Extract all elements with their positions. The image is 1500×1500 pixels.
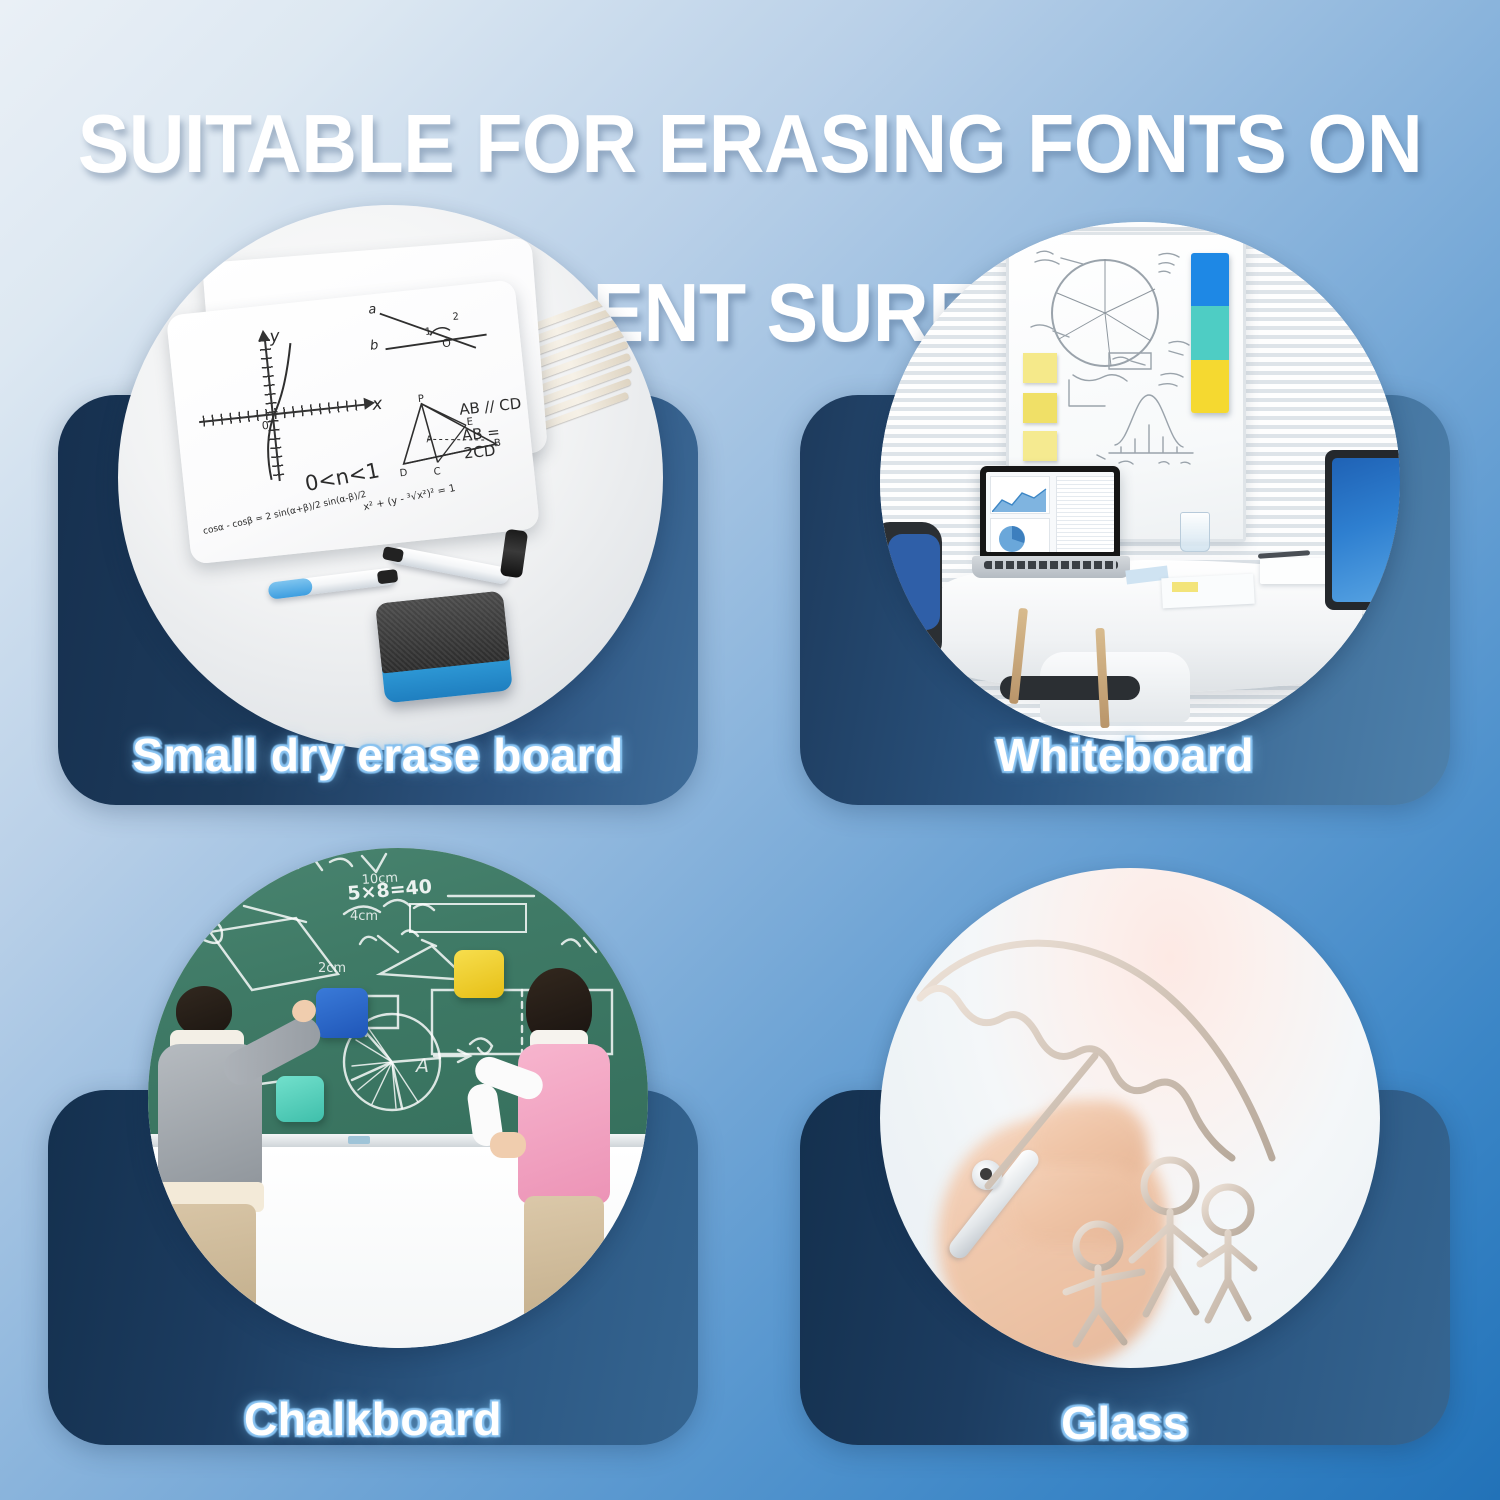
- panel-photo-glass: [880, 868, 1380, 1368]
- dry-erase-marker: [267, 567, 396, 599]
- angle-label-1: 1: [424, 326, 431, 338]
- magnetic-eraser-strip: [1191, 253, 1229, 413]
- water-glass: [1180, 512, 1210, 552]
- child-left-hair: [176, 986, 232, 1036]
- child-left-pants: [164, 1204, 256, 1348]
- sticky-note: [1023, 353, 1057, 383]
- office-chair-left-seat: [888, 534, 940, 630]
- pyramid-label-D: D: [399, 468, 408, 480]
- panel-caption-glass: Glass: [800, 1396, 1450, 1450]
- magnetic-eraser-yellow: [454, 950, 504, 998]
- panel-photo-whiteboard: [880, 222, 1400, 742]
- angle-label-O: O: [442, 336, 452, 350]
- sticky-note: [1023, 393, 1057, 423]
- sticky-note: [1023, 431, 1057, 461]
- magnetic-eraser-blue: [316, 988, 368, 1038]
- magnetic-eraser-teal: [276, 1076, 324, 1122]
- laptop-base: [972, 556, 1130, 578]
- magnetic-eraser: [375, 591, 513, 704]
- marker-cap: [500, 529, 528, 579]
- child-right-vest: [518, 1044, 610, 1204]
- pyramid-label-C: C: [433, 466, 441, 478]
- sticky-note: [1172, 582, 1198, 592]
- page-title-line-1: SUITABLE FOR ERASING FONTS ON: [53, 103, 1448, 184]
- child-right-hand: [490, 1132, 526, 1158]
- dry-erase-marker-second: [389, 546, 510, 586]
- svg-text:2cm: 2cm: [318, 961, 346, 976]
- angle-label-b: b: [369, 338, 379, 354]
- panel-caption-small-dry-erase-board: Small dry erase board: [58, 728, 698, 782]
- child-right-pants: [524, 1196, 604, 1342]
- panel-caption-chalkboard: Chalkboard: [48, 1392, 698, 1446]
- plotted-curve: [244, 339, 328, 486]
- panel-photo-small-dry-erase-board: y x 0 a b 1 2 O 0<n<1: [118, 205, 663, 750]
- axis-x-label: x: [371, 394, 383, 415]
- pyramid-label-P: P: [417, 393, 424, 405]
- chair-arm: [1000, 676, 1140, 700]
- svg-text:B: B: [204, 871, 222, 901]
- angle-diagram: [371, 296, 497, 370]
- notebook: [1260, 558, 1334, 584]
- panel-caption-whiteboard: Whiteboard: [800, 728, 1450, 782]
- tray-magnet: [348, 1136, 370, 1144]
- angle-label-2: 2: [452, 311, 459, 323]
- dry-erase-board-front: y x 0 a b 1 2 O 0<n<1: [166, 279, 540, 564]
- laptop-screen: [980, 466, 1120, 558]
- svg-text:A: A: [414, 1055, 429, 1077]
- panel-photo-chalkboard: 5×8=40 4cm 2cm 10cm A B: [148, 848, 648, 1348]
- trig-formula: cosα - cosβ = 2 sin(α+β)/2 sin(α-β)/2: [202, 490, 367, 537]
- svg-text:10cm: 10cm: [361, 870, 398, 887]
- umbrella-stick-figure-drawing: [880, 868, 1380, 1368]
- pyramid-label-A: A: [426, 435, 433, 446]
- axis-y-label: y: [269, 326, 281, 347]
- axis-origin-label: 0: [261, 419, 269, 433]
- angle-label-a: a: [368, 302, 377, 318]
- wall-monitor-screen: [1332, 458, 1400, 602]
- circle-formula: x² + (y - ³√x²)² = 1: [362, 483, 456, 513]
- relation-ab-2cd: AB = 2CD: [461, 420, 532, 463]
- svg-text:4cm: 4cm: [350, 909, 378, 924]
- infographic-page: SUITABLE FOR ERASING FONTS ON DIFFERENT …: [0, 0, 1500, 1500]
